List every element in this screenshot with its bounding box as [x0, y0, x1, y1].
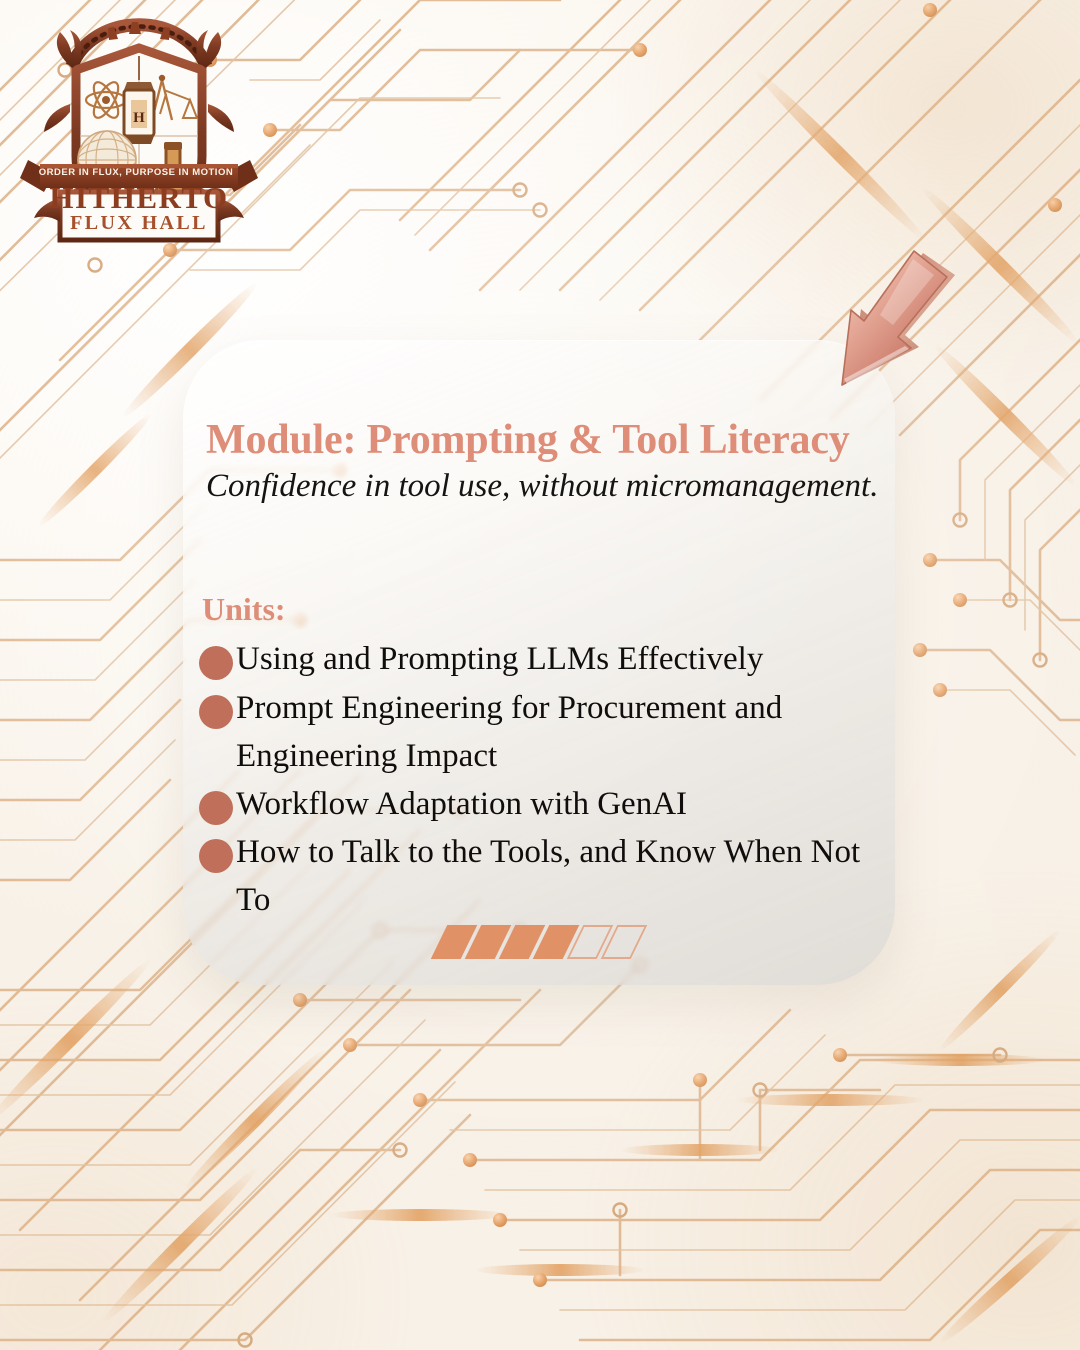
brand-motto: ORDER IN FLUX, PURPOSE IN MOTION [36, 167, 236, 178]
bullet-dot-icon [199, 646, 233, 680]
module-subtitle: Confidence in tool use, without microman… [206, 467, 865, 506]
bullet-dot-icon [199, 839, 233, 873]
brand-logo[interactable]: H [14, 8, 264, 248]
module-title: Module: Prompting & Tool Literacy [206, 418, 865, 463]
units-heading: Units: [202, 593, 865, 625]
brand-name-line1: HITHERTO [14, 180, 264, 216]
unit-label: Workflow Adaptation with GenAI [236, 786, 687, 822]
list-item: Prompt Engineering for Procurement and E… [198, 684, 865, 780]
module-card: Module: Prompting & Tool Literacy Confid… [183, 340, 895, 985]
unit-label: How to Talk to the Tools, and Know When … [236, 834, 860, 918]
svg-text:H: H [133, 110, 145, 126]
list-item: Using and Prompting LLMs Effectively [198, 635, 865, 683]
module-card-content: Module: Prompting & Tool Literacy Confid… [183, 340, 895, 985]
poster-canvas: H [0, 0, 1080, 1350]
bullet-dot-icon [199, 791, 233, 825]
arrow-down-left-icon [795, 243, 965, 423]
units-list: Using and Prompting LLMs Effectively Pro… [192, 635, 865, 924]
bullet-dot-icon [199, 695, 233, 729]
unit-label: Using and Prompting LLMs Effectively [236, 641, 763, 677]
list-item: Workflow Adaptation with GenAI [198, 780, 865, 828]
list-item: How to Talk to the Tools, and Know When … [198, 828, 865, 924]
progress-chevron-bar [183, 925, 895, 959]
unit-label: Prompt Engineering for Procurement and E… [236, 690, 782, 774]
brand-name-line2: FLUX HALL [14, 212, 264, 235]
